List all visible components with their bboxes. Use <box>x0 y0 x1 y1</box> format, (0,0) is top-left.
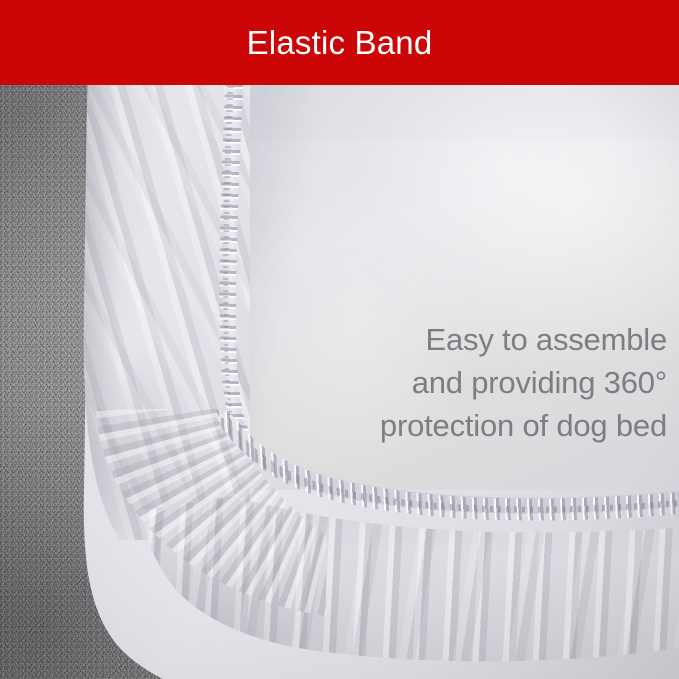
banner-title-text: Elastic Band <box>247 26 433 59</box>
caption-overlay: Easy to assemble and providing 360° prot… <box>247 318 667 447</box>
caption-line-2: and providing 360° <box>247 361 667 404</box>
title-banner: Elastic Band <box>0 0 679 85</box>
product-photo-scene: Easy to assemble and providing 360° prot… <box>0 0 679 679</box>
caption-line-1: Easy to assemble <box>247 318 667 361</box>
caption-line-3: protection of dog bed <box>247 404 667 447</box>
